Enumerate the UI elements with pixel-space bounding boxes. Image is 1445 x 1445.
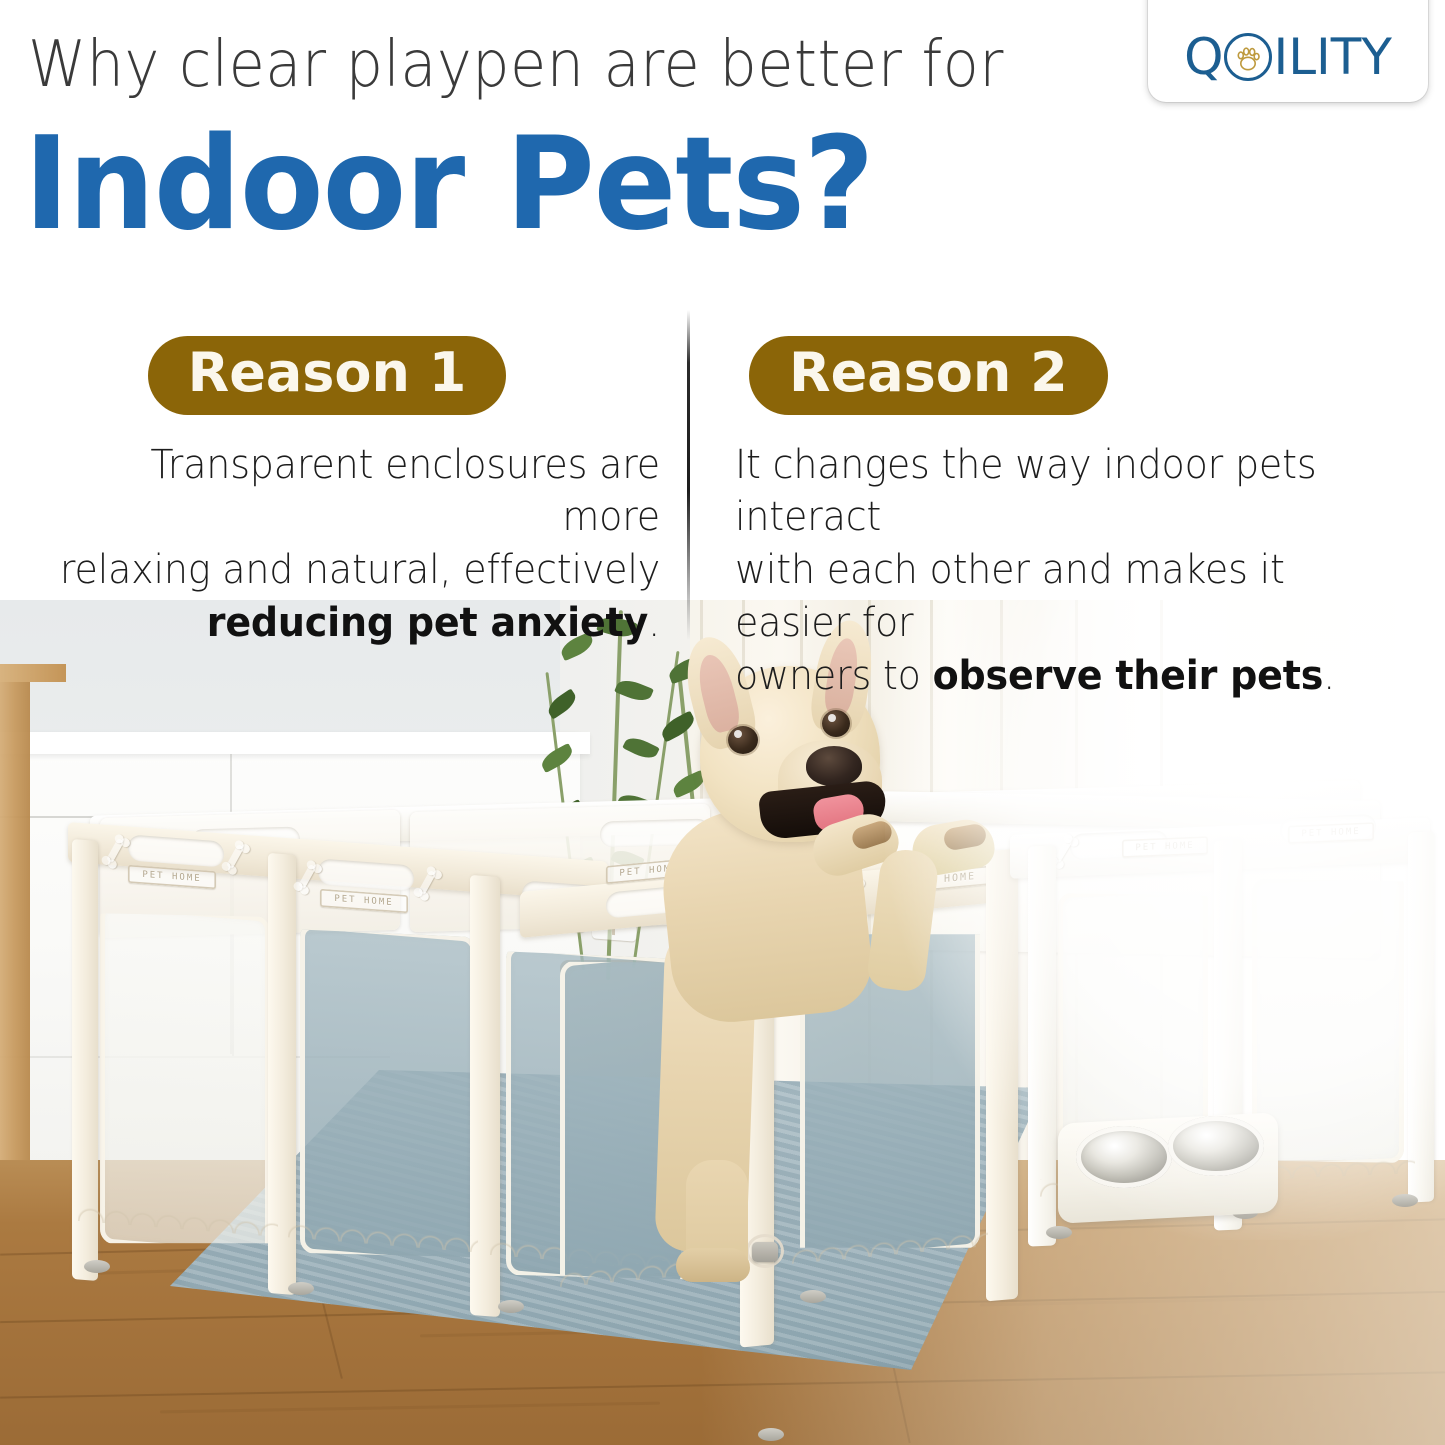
reason-1-line-1: Transparent enclosures are more [150,442,660,541]
dog-eye-right [822,710,850,737]
product-photo: PET HOME PET HOME [0,600,1445,1445]
reason-2-period: . [1323,653,1335,699]
reason-1-text: Transparent enclosures are more relaxing… [43,439,661,650]
pen-window-left-2 [300,923,476,1267]
logo-ility: ILITY [1273,32,1391,82]
headline-line-1: Why clear playpen are better for [28,32,1049,99]
column-divider [687,310,690,640]
reason-2-badge: Reason 2 [749,336,1108,415]
reason-2-line-3-prefix: owners to [735,653,933,699]
reason-1-badge: Reason 1 [148,336,507,415]
reason-2-line-1: It changes the way indoor pets interact [735,442,1316,541]
reasons-section: Reason 1 Transparent enclosures are more… [0,336,1445,636]
dog-eye-left [728,726,758,754]
headline-line-2: Indoor Pets? [24,118,1126,252]
logo-q: Q [1184,32,1223,82]
reason-1-emphasis: reducing pet anxiety [207,600,648,646]
dog-nose [806,746,862,786]
pen-window-left-1 [100,903,270,1257]
brand-logo[interactable]: Q ILITY [1148,0,1428,102]
dog-paw-ground [676,1248,750,1282]
reason-2-text: It changes the way indoor pets interact … [735,439,1400,703]
paw-icon [1224,33,1272,81]
reason-1-period: . [648,600,660,646]
reason-column-1: Reason 1 Transparent enclosures are more… [10,336,660,650]
pen-latch-bottom[interactable] [752,1242,778,1262]
reason-2-emphasis: observe their pets [933,653,1324,699]
reason-2-line-2: with each other and makes it easier for [735,547,1285,646]
reason-column-2: Reason 2 It changes the way indoor pets … [735,336,1435,703]
infographic-root: PET HOME PET HOME [0,0,1445,1445]
reason-1-line-2: relaxing and natural, effectively [60,547,660,593]
